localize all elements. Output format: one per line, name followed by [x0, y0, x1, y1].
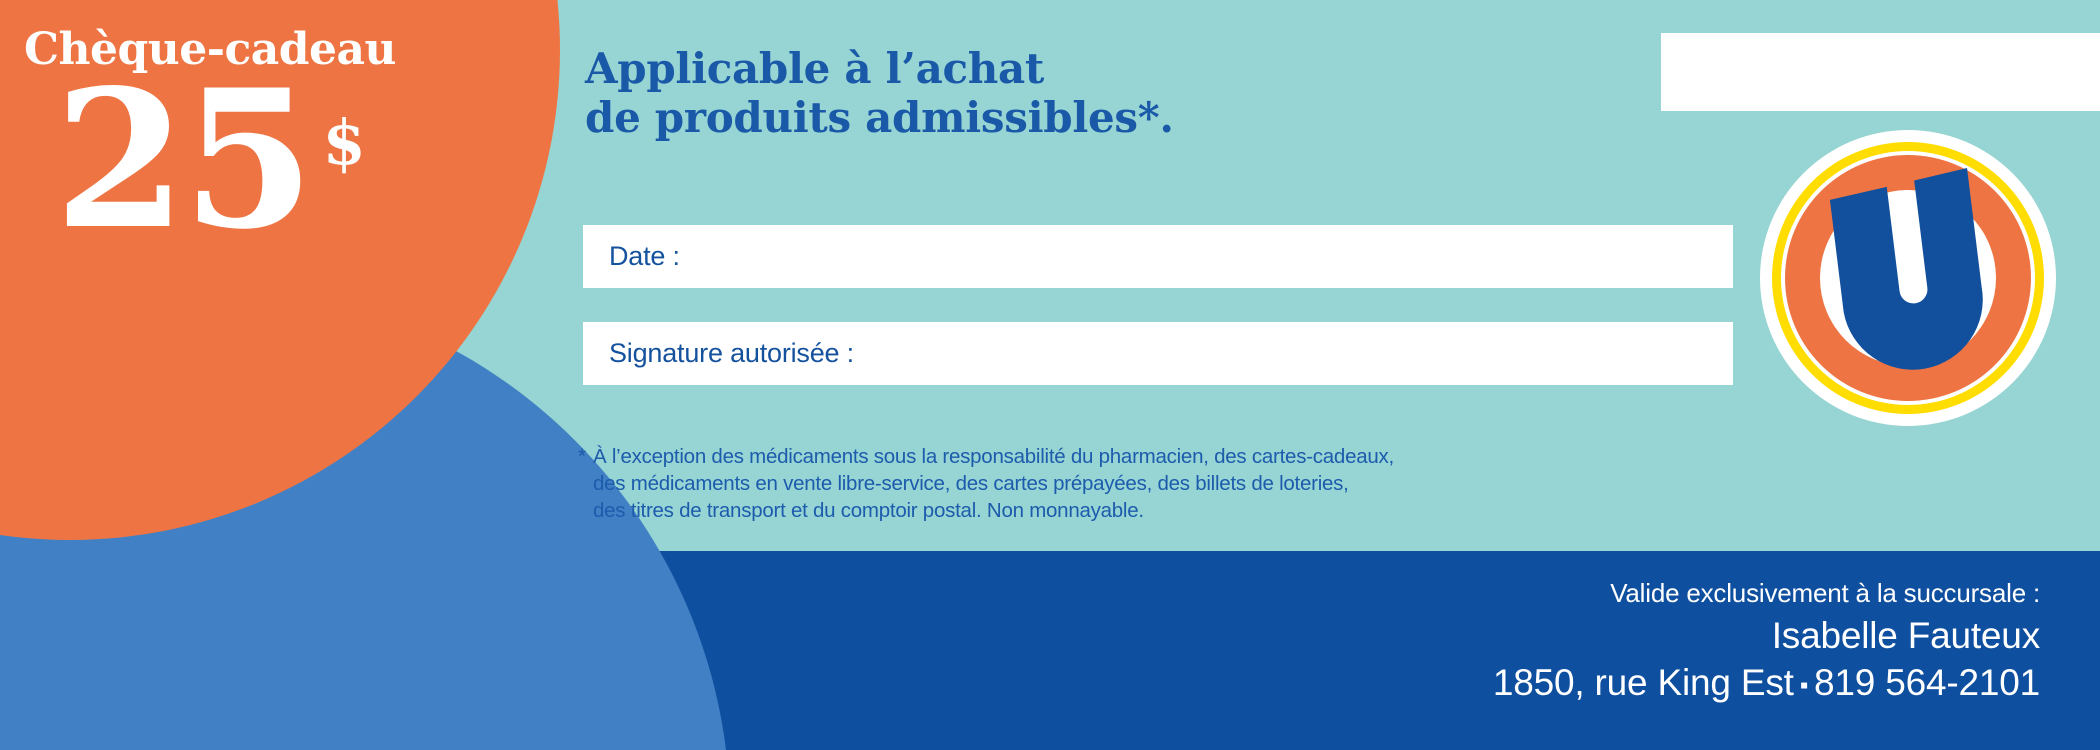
valid-at-label: Valide exclusivement à la succursale :	[1493, 578, 2040, 609]
branch-info: Valide exclusivement à la succursale : I…	[1493, 578, 2040, 705]
branch-address-line: 1850, rue King Est▪819 564-2101	[1493, 660, 2040, 705]
footnote-line-1: À l’exception des médicaments sous la re…	[593, 443, 1394, 470]
date-field-label: Date :	[609, 241, 680, 272]
headline-line-1: Applicable à l’achat	[585, 44, 1174, 93]
signature-field[interactable]: Signature autorisée :	[583, 322, 1733, 385]
headline: Applicable à l’achat de produits admissi…	[585, 44, 1174, 142]
footnote-line-3: des titres de transport et du comptoir p…	[593, 497, 1394, 524]
branch-phone: 819 564-2101	[1814, 662, 2040, 703]
headline-line-2: de produits admissibles*.	[585, 93, 1174, 142]
signature-field-label: Signature autorisée :	[609, 338, 854, 369]
footnote-line-2: des médicaments en vente libre-service, …	[593, 470, 1394, 497]
branch-street: 1850, rue King Est	[1493, 662, 1794, 703]
footnote-asterisk: *	[578, 443, 586, 471]
date-field[interactable]: Date :	[583, 225, 1733, 288]
top-right-white-strip	[1661, 33, 2100, 111]
gift-certificate-voucher: Chèque-cadeau 25 $ Applicable à l’achat …	[0, 0, 2100, 750]
branch-name: Isabelle Fauteux	[1493, 613, 2040, 658]
footnote: * À l’exception des médicaments sous la …	[578, 443, 1394, 524]
separator-bullet: ▪	[1794, 672, 1814, 699]
uniprix-logo	[1758, 128, 2058, 428]
footnote-body: À l’exception des médicaments sous la re…	[593, 443, 1394, 524]
